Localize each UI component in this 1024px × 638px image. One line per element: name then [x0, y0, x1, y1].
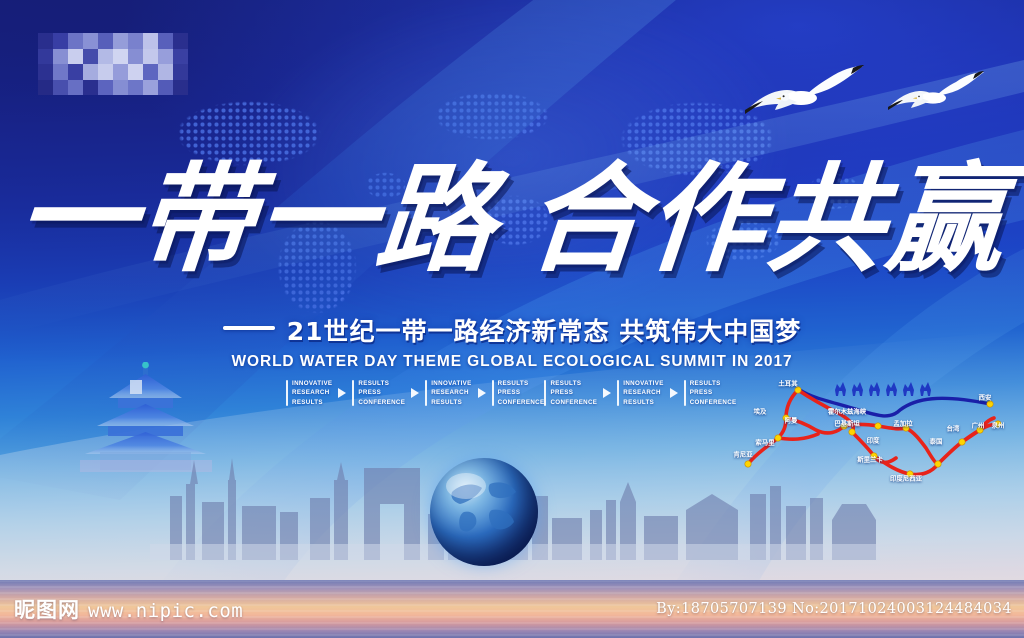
map-label-14: 泉州 [992, 421, 1005, 430]
feature-block-text: RESULTSPRESSCONFERENCE [358, 379, 405, 408]
map-label-10: 印度尼西亚 [890, 474, 922, 483]
page-title: 一带一路合作共赢 [0, 160, 1024, 278]
seagull-icon-right [880, 58, 990, 134]
map-label-13: 广州 [972, 421, 985, 430]
divider-bar [684, 380, 686, 406]
map-label-4: 肯尼亚 [733, 450, 752, 459]
map-label-0: 土耳其 [778, 379, 797, 388]
arrow-right-icon [338, 388, 346, 398]
map-label-1: 埃及 [754, 407, 767, 416]
feature-block-3[interactable]: INNOVATIVERESEARCHRESULTS [425, 379, 471, 408]
map-label-8: 斯里兰卡 [857, 455, 883, 464]
map-label-7: 印度 [867, 436, 880, 445]
subtitle-dash [223, 326, 275, 330]
divider-bar [425, 380, 427, 406]
mosaic-logo [38, 33, 188, 95]
headline-secondary: 合作共赢 [521, 150, 1013, 288]
map-label-12: 台湾 [947, 424, 960, 433]
map-label-6: 巴基斯坦 [834, 419, 860, 428]
subtitle-cn: 21世纪一带一路经济新常态 共筑伟大中国梦 [287, 318, 802, 346]
watermark-url: www.nipic.com [88, 600, 243, 622]
feature-block-text: INNOVATIVERESEARCHRESULTS [292, 379, 332, 408]
arrow-right-icon [603, 388, 611, 398]
feature-strip: INNOVATIVERESEARCHRESULTSRESULTSPRESSCON… [286, 377, 734, 409]
map-label-15: 西安 [979, 393, 992, 402]
divider-bar [492, 380, 494, 406]
feature-block-2[interactable]: RESULTSPRESSCONFERENCE [352, 379, 405, 408]
feature-block-text: RESULTSPRESSCONFERENCE [690, 379, 737, 408]
feature-block-5[interactable]: RESULTSPRESSCONFERENCE [544, 379, 597, 408]
arrow-right-icon [411, 388, 419, 398]
belt-road-route-map: 土耳其埃及阿曼索马里肯尼亚霍尔木兹海峡巴基斯坦印度斯里兰卡孟加拉印度尼西亚泰国台… [740, 368, 1024, 486]
arrow-right-icon [478, 388, 486, 398]
feature-block-6[interactable]: INNOVATIVERESEARCHRESULTS [617, 379, 663, 408]
feature-block-text: INNOVATIVERESEARCHRESULTS [623, 379, 663, 408]
earth-globe [430, 458, 538, 566]
footer-bar: 昵图网 www.nipic.com By:18705707139 No:2017… [0, 580, 1024, 638]
divider-bar [286, 380, 288, 406]
poster-canvas: 一带一路合作共赢 21世纪一带一路经济新常态 共筑伟大中国梦 WORLD WAT… [0, 0, 1024, 638]
feature-block-text: RESULTSPRESSCONFERENCE [550, 379, 597, 408]
divider-bar [617, 380, 619, 406]
map-label-9: 孟加拉 [893, 419, 912, 428]
credit-id: By:18705707139 No:20171024003124484034 [656, 601, 1012, 617]
feature-block-1[interactable]: INNOVATIVERESEARCHRESULTS [286, 379, 332, 408]
headline-primary: 一带一路 [11, 150, 503, 288]
map-label-3: 索马里 [755, 438, 774, 447]
seagull-icon-left [735, 48, 875, 140]
map-label-2: 阿曼 [785, 416, 798, 425]
divider-bar [544, 380, 546, 406]
arrow-right-icon [670, 388, 678, 398]
map-label-11: 泰国 [930, 437, 943, 446]
watermark-cn: 昵图网 [14, 594, 80, 624]
map-label-5: 霍尔木兹海峡 [828, 407, 866, 416]
feature-block-4[interactable]: RESULTSPRESSCONFERENCE [492, 379, 545, 408]
feature-block-text: INNOVATIVERESEARCHRESULTS [431, 379, 471, 408]
watermark: 昵图网 www.nipic.com [14, 594, 243, 624]
divider-bar [352, 380, 354, 406]
feature-block-text: RESULTSPRESSCONFERENCE [498, 379, 545, 408]
feature-block-7[interactable]: RESULTSPRESSCONFERENCE [684, 379, 737, 408]
